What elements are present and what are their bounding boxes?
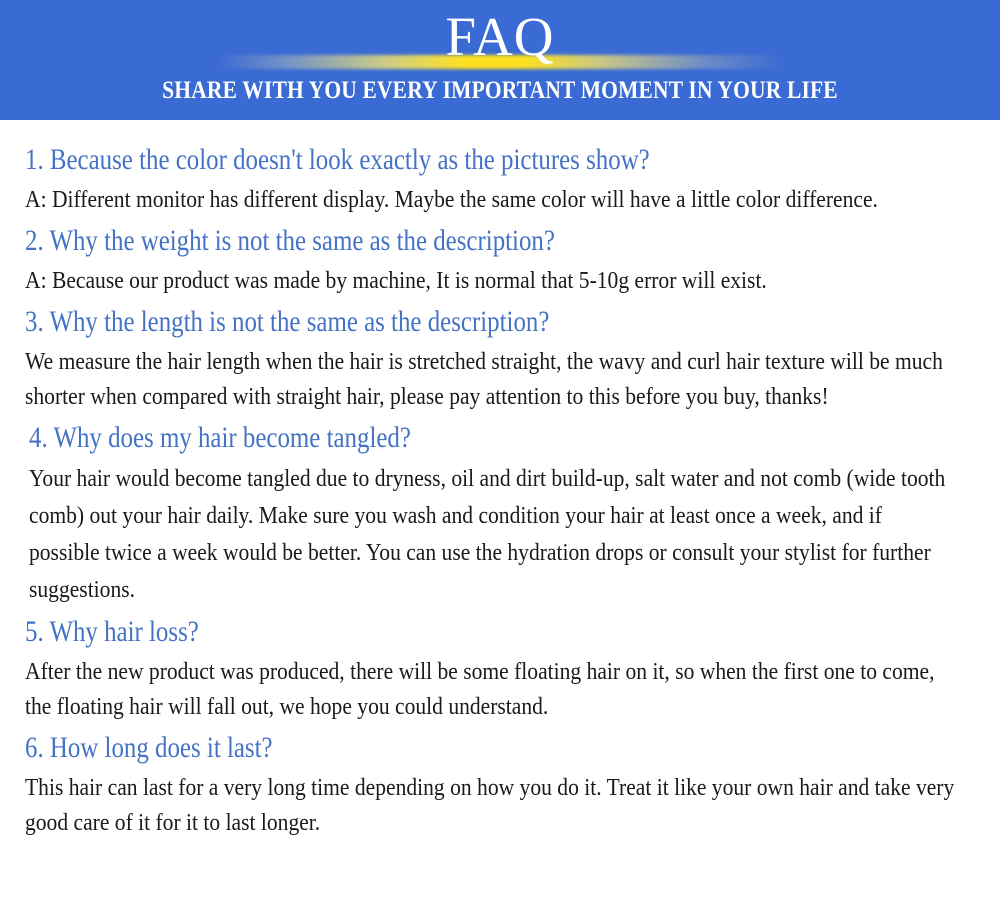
faq-item-2: 2. Why the weight is not the same as the… — [0, 219, 1000, 298]
faq-answer-4: Your hair would become tangled due to dr… — [29, 460, 955, 608]
page-subtitle: SHARE WITH YOU EVERY IMPORTANT MOMENT IN… — [70, 77, 930, 105]
faq-answer-2: A: Because our product was made by machi… — [25, 263, 965, 298]
faq-question-1: 1. Because the color doesn't look exactl… — [25, 138, 961, 182]
faq-answer-6: This hair can last for a very long time … — [25, 770, 965, 840]
faq-question-3: 3. Why the length is not the same as the… — [25, 300, 961, 344]
faq-question-4: 4. Why does my hair become tangled? — [29, 416, 951, 460]
faq-question-6: 6. How long does it last? — [25, 726, 961, 770]
faq-answer-1: A: Different monitor has different displ… — [25, 182, 965, 217]
faq-answer-3: We measure the hair length when the hair… — [25, 344, 965, 414]
faq-answer-5: After the new product was produced, ther… — [25, 654, 965, 724]
faq-item-6: 6. How long does it last? This hair can … — [0, 726, 1000, 840]
faq-item-1: 1. Because the color doesn't look exactl… — [0, 138, 1000, 217]
faq-item-5: 5. Why hair loss? After the new product … — [0, 610, 1000, 724]
page-title: FAQ — [0, 6, 1000, 68]
faq-item-4: 4. Why does my hair become tangled? Your… — [0, 416, 1000, 608]
faq-question-5: 5. Why hair loss? — [25, 610, 961, 654]
faq-header-banner: FAQ SHARE WITH YOU EVERY IMPORTANT MOMEN… — [0, 0, 1000, 120]
faq-list: 1. Because the color doesn't look exactl… — [0, 138, 1000, 840]
faq-item-3: 3. Why the length is not the same as the… — [0, 300, 1000, 414]
faq-question-2: 2. Why the weight is not the same as the… — [25, 219, 961, 263]
